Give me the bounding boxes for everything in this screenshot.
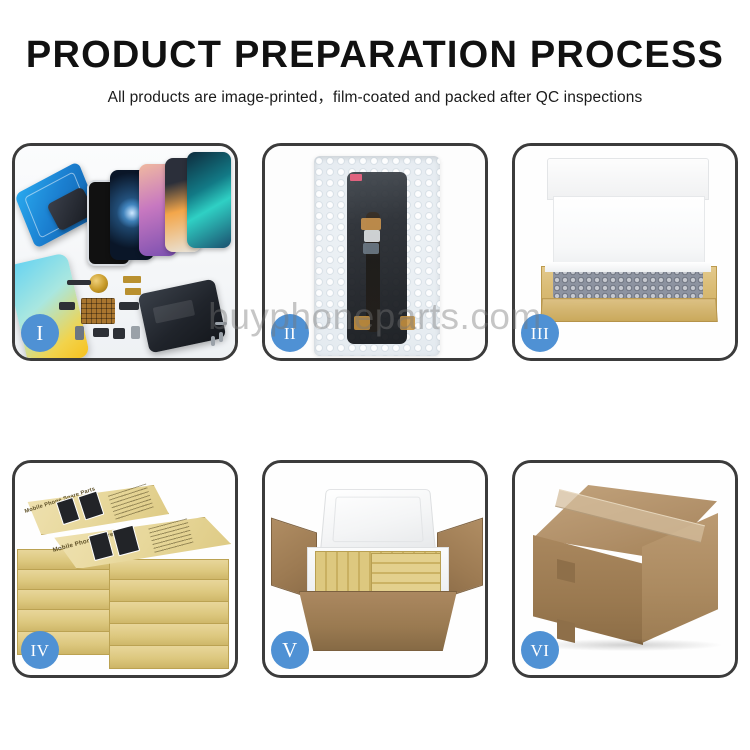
battery-connector-icon xyxy=(75,326,84,340)
box-lid-icon xyxy=(547,158,709,200)
camera-module-icon xyxy=(113,328,125,339)
connector-2-icon xyxy=(364,230,380,242)
small-part-2-icon xyxy=(119,302,139,310)
step-badge-6: VI xyxy=(521,631,559,669)
step-badge-2: II xyxy=(271,314,309,352)
panel-step-5: V xyxy=(262,460,488,678)
step-badge-1: I xyxy=(21,314,59,352)
small-part-1-icon xyxy=(59,302,75,310)
kraft-box-side-8 xyxy=(109,601,229,625)
kraft-box-side-9 xyxy=(109,623,229,647)
kraft-box-side-6 xyxy=(109,559,229,581)
step-badge-3: III xyxy=(521,314,559,352)
flex-cable-2-icon xyxy=(125,288,141,295)
connector-3-icon xyxy=(363,243,379,254)
connector-5-icon xyxy=(400,316,415,330)
header: PRODUCT PREPARATION PROCESS All products… xyxy=(0,0,750,107)
bubble-wrapped-contents-icon xyxy=(553,268,703,298)
carton-body-icon xyxy=(299,591,457,651)
bubble-wrap-icon xyxy=(314,156,440,356)
packed-kraft-boxes-2-icon xyxy=(371,553,441,593)
tweezers-icon xyxy=(215,322,227,325)
small-part-3-icon xyxy=(93,328,109,337)
connector-1-icon xyxy=(361,218,381,230)
carton-shadow xyxy=(535,639,721,651)
phone-screen-teal-icon xyxy=(187,152,231,248)
kraft-box-side-2 xyxy=(17,569,111,591)
chip-grid-icon xyxy=(81,298,115,324)
foam-sheet-icon xyxy=(553,196,705,270)
kraft-box-side-10 xyxy=(109,645,229,669)
foam-cooler-lid-icon xyxy=(320,489,436,552)
step-badge-4: IV xyxy=(21,631,59,669)
step-badge-5: V xyxy=(271,631,309,669)
speaker-coil-icon xyxy=(89,274,108,293)
qc-sticker-icon xyxy=(350,174,362,181)
panel-step-3: III xyxy=(512,143,738,361)
connector-4-icon xyxy=(354,316,370,330)
process-step-grid: I II xyxy=(12,143,738,678)
kraft-box-side-4 xyxy=(17,609,111,633)
kraft-box-side-7 xyxy=(109,579,229,603)
screw-2-icon xyxy=(219,332,223,342)
kraft-box-side-3 xyxy=(17,589,111,611)
product-preparation-infographic: PRODUCT PREPARATION PROCESS All products… xyxy=(0,0,750,750)
panel-step-6: VI xyxy=(512,460,738,678)
kraft-box-front-icon xyxy=(540,298,718,322)
page-title: PRODUCT PREPARATION PROCESS xyxy=(0,36,750,76)
panel-step-2: II xyxy=(262,143,488,361)
panel-step-4: Mobile Phone Spare Parts Mobile Phone Sp… xyxy=(12,460,238,678)
foam-front-edge-icon xyxy=(545,262,711,272)
page-subtitle: All products are image-printed，film-coat… xyxy=(0,85,750,107)
screw-1-icon xyxy=(211,336,215,346)
earpiece-mesh-icon xyxy=(67,280,91,285)
panel-step-1: I xyxy=(12,143,238,361)
vibrator-motor-icon xyxy=(131,326,140,339)
flex-cable-icon xyxy=(123,276,141,283)
